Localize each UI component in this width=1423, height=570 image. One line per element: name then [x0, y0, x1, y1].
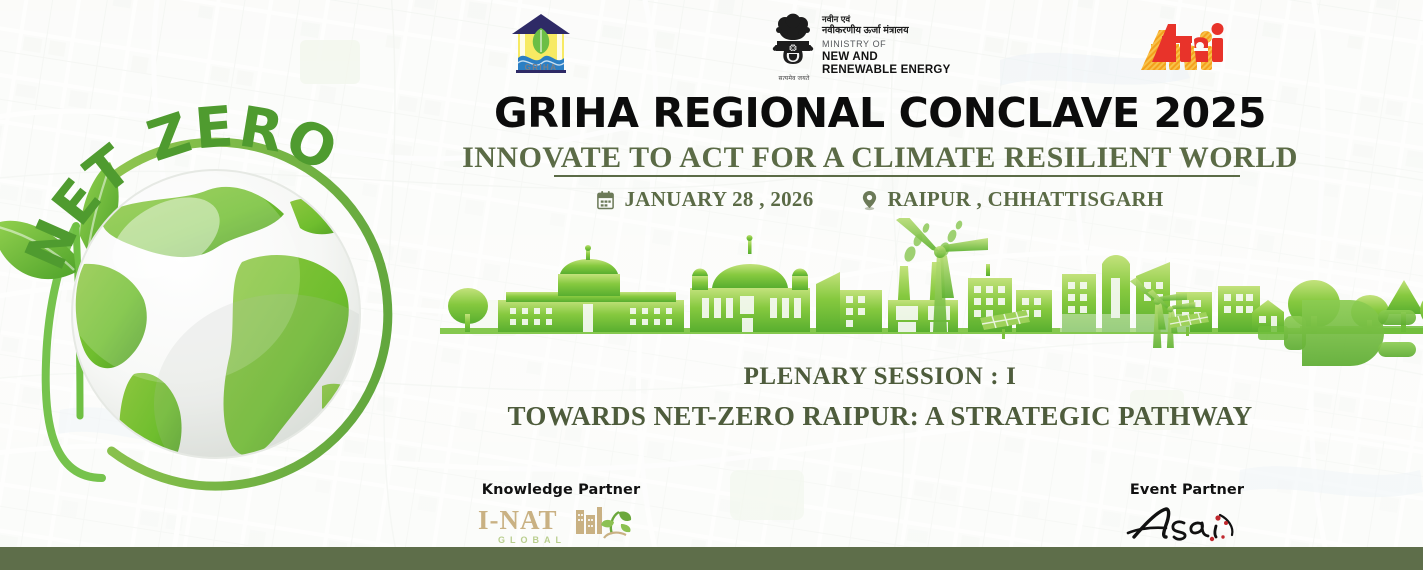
ministry-motto: सत्यमेव जयते [768, 74, 820, 82]
session-title: TOWARDS NET-ZERO RAIPUR: A STRATEGIC PAT… [430, 398, 1330, 434]
i-nat-global-logo[interactable]: I-NAT [476, 504, 646, 546]
event-banner: NET ZERO [0, 0, 1423, 570]
location-pin-icon [860, 189, 879, 211]
knowledge-partner-label: Knowledge Partner [419, 482, 703, 498]
ministry-english-line3: RENEWABLE ENERGY [822, 64, 962, 78]
title-block: GRIHA REGIONAL CONCLAVE 2025 INNOVATE TO… [430, 92, 1330, 212]
event-date: JANUARY 28 , 2026 [596, 187, 813, 212]
event-partner-label: Event Partner [1079, 482, 1295, 498]
ministry-logo[interactable]: नवीन एवं नवीकरणीय ऊर्जा मंत्रालय MINISTR… [770, 12, 960, 80]
subtitle-underline [554, 175, 1240, 177]
bottom-accent-bar [0, 547, 1423, 570]
knowledge-partner: Knowledge Partner I-NAT [419, 482, 703, 545]
net-zero-globe-illustration: NET ZERO [0, 86, 456, 506]
global-logo-text: GLOBAL [498, 535, 566, 545]
ministry-english-line1: MINISTRY OF [822, 38, 962, 51]
teri-logo[interactable] [1138, 18, 1236, 70]
ministry-english-line2: NEW AND [822, 51, 962, 65]
ministry-hindi-line1: नवीन एवं [822, 14, 962, 25]
ashoka-emblem-icon [770, 12, 816, 74]
calendar-icon [596, 189, 615, 211]
event-date-text: JANUARY 28 , 2026 [624, 187, 813, 212]
session-block: PLENARY SESSION : I TOWARDS NET-ZERO RAI… [430, 360, 1330, 434]
page-title: GRIHA REGIONAL CONCLAVE 2025 [430, 92, 1330, 135]
event-location: RAIPUR , CHHATTISGARH [860, 187, 1164, 212]
event-location-text: RAIPUR , CHHATTISGARH [888, 187, 1164, 212]
event-meta-row: JANUARY 28 , 2026 RAIPUR , CHHATTISGARH [430, 187, 1330, 212]
asai-logo[interactable] [1122, 503, 1252, 547]
page-subtitle: INNOVATE TO ACT FOR A CLIMATE RESILIENT … [462, 141, 1298, 174]
griha-logo-caption: GRIHA [495, 63, 587, 75]
logo-row: GRIHA [0, 0, 1423, 90]
ministry-hindi-line2: नवीकरणीय ऊर्जा मंत्रालय [822, 25, 962, 37]
event-partner: Event Partner [1079, 482, 1295, 545]
i-nat-logo-text: I-NAT [478, 505, 558, 535]
session-number: PLENARY SESSION : I [430, 360, 1330, 394]
